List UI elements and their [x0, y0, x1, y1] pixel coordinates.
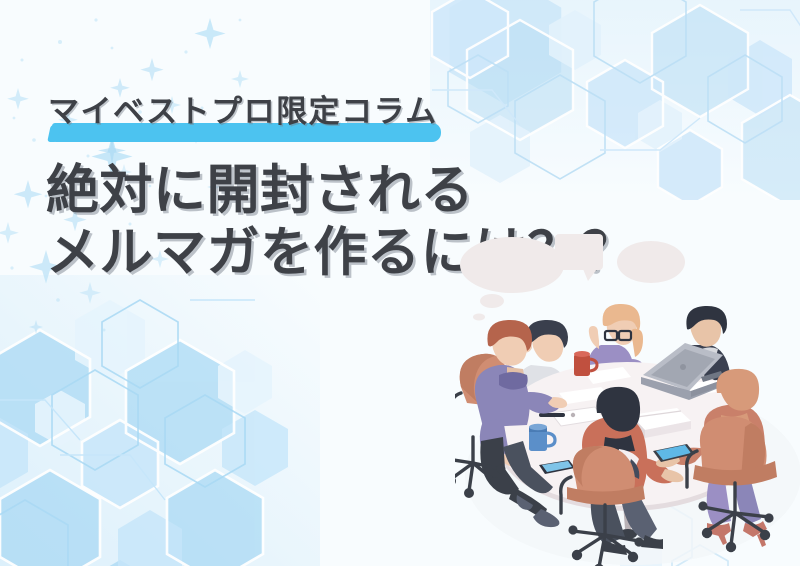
hexagon-pattern-bottom — [0, 275, 320, 566]
thought-bubble-right — [617, 241, 685, 283]
banner-canvas: マイベストプロ限定コラム 絶対に開封される メルマガを作るには？？ — [0, 0, 800, 566]
speech-bubble-center — [555, 234, 603, 281]
meeting-people-illustration — [455, 225, 800, 566]
thought-bubble-left — [460, 237, 564, 321]
kicker-text: マイベストプロ限定コラム — [48, 96, 438, 127]
kicker-label: マイベストプロ限定コラム — [48, 96, 438, 127]
headline-line-1: 絶対に開封される — [46, 160, 635, 222]
